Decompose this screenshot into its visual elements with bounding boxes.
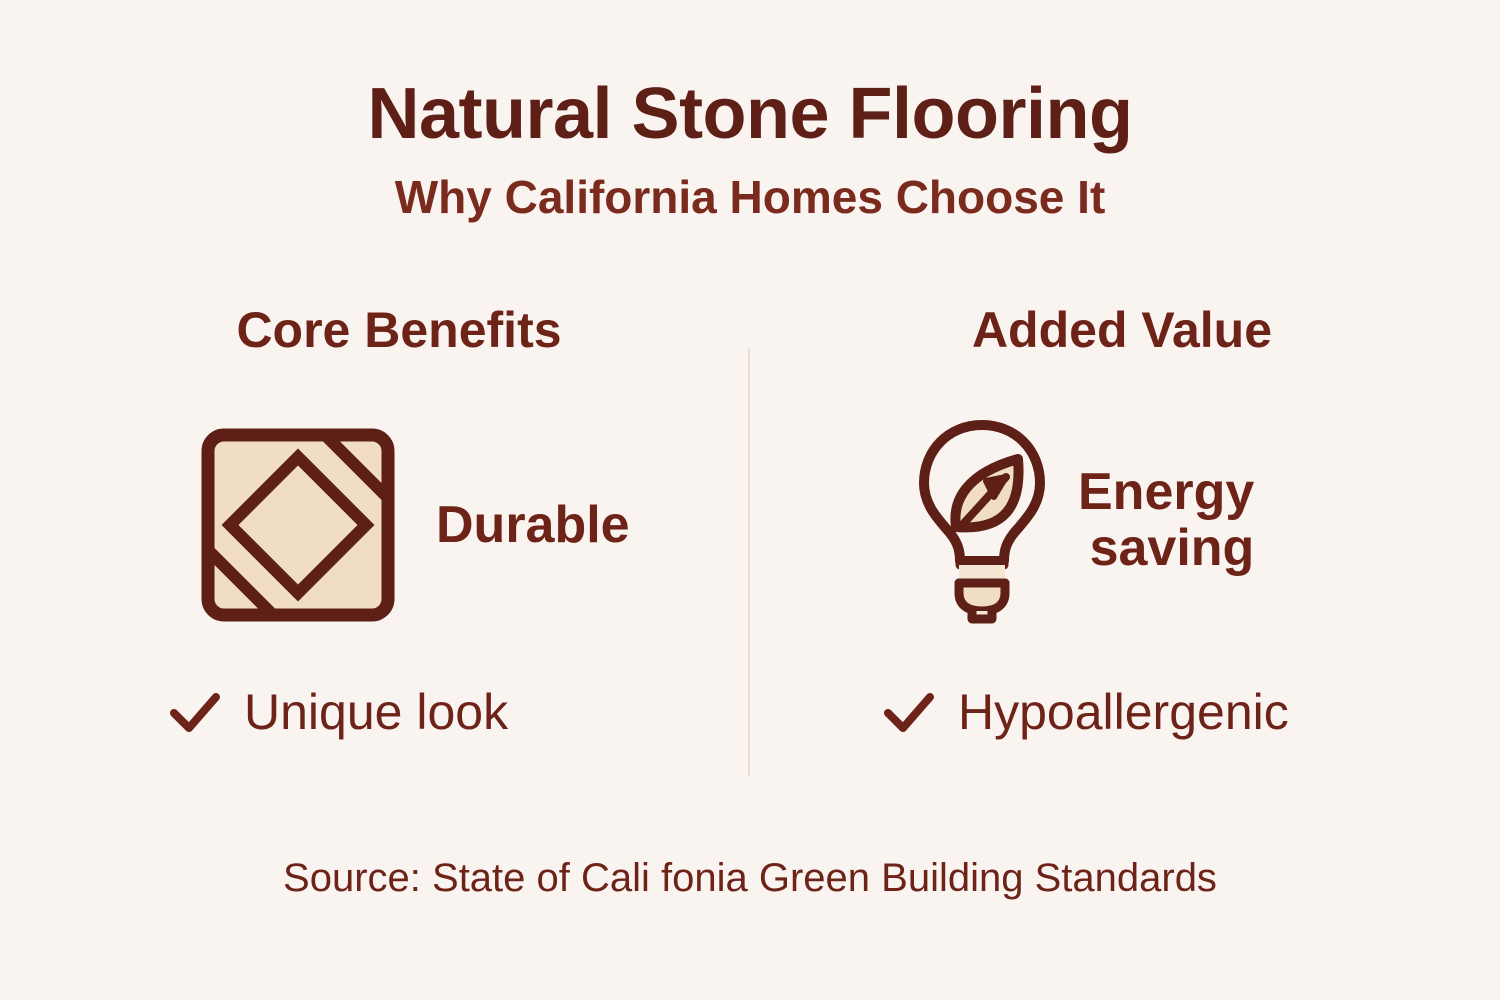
- stone-tile-icon: [198, 425, 398, 625]
- check-icon: [882, 685, 936, 739]
- check-row-hypoallergenic: Hypoallergenic: [882, 685, 1289, 739]
- infographic-poster: Natural Stone Flooring Why California Ho…: [0, 0, 1500, 1000]
- source-note: Source: State of Cali fonia Green Buildi…: [0, 858, 1500, 898]
- check-icon: [168, 685, 222, 739]
- column-heading-added-value: Added Value: [760, 305, 1460, 355]
- feature-energy-saving: Energy saving: [912, 415, 1254, 625]
- page-title: Natural Stone Flooring: [0, 78, 1500, 150]
- check-label-hypoallergenic: Hypoallergenic: [958, 687, 1289, 737]
- column-added-value: Added Value: [760, 305, 1460, 805]
- column-heading-core-benefits: Core Benefits: [40, 305, 740, 355]
- feature-label-durable: Durable: [436, 497, 630, 553]
- columns-container: Core Benefits D: [0, 305, 1500, 805]
- page-subtitle: Why California Homes Choose It: [0, 174, 1500, 220]
- check-label-unique-look: Unique look: [244, 687, 508, 737]
- header: Natural Stone Flooring Why California Ho…: [0, 78, 1500, 220]
- feature-label-energy-saving: Energy saving: [1078, 464, 1254, 576]
- check-row-unique-look: Unique look: [168, 685, 508, 739]
- eco-lightbulb-icon: [912, 415, 1052, 625]
- feature-durable: Durable: [198, 425, 630, 625]
- column-core-benefits: Core Benefits D: [40, 305, 740, 805]
